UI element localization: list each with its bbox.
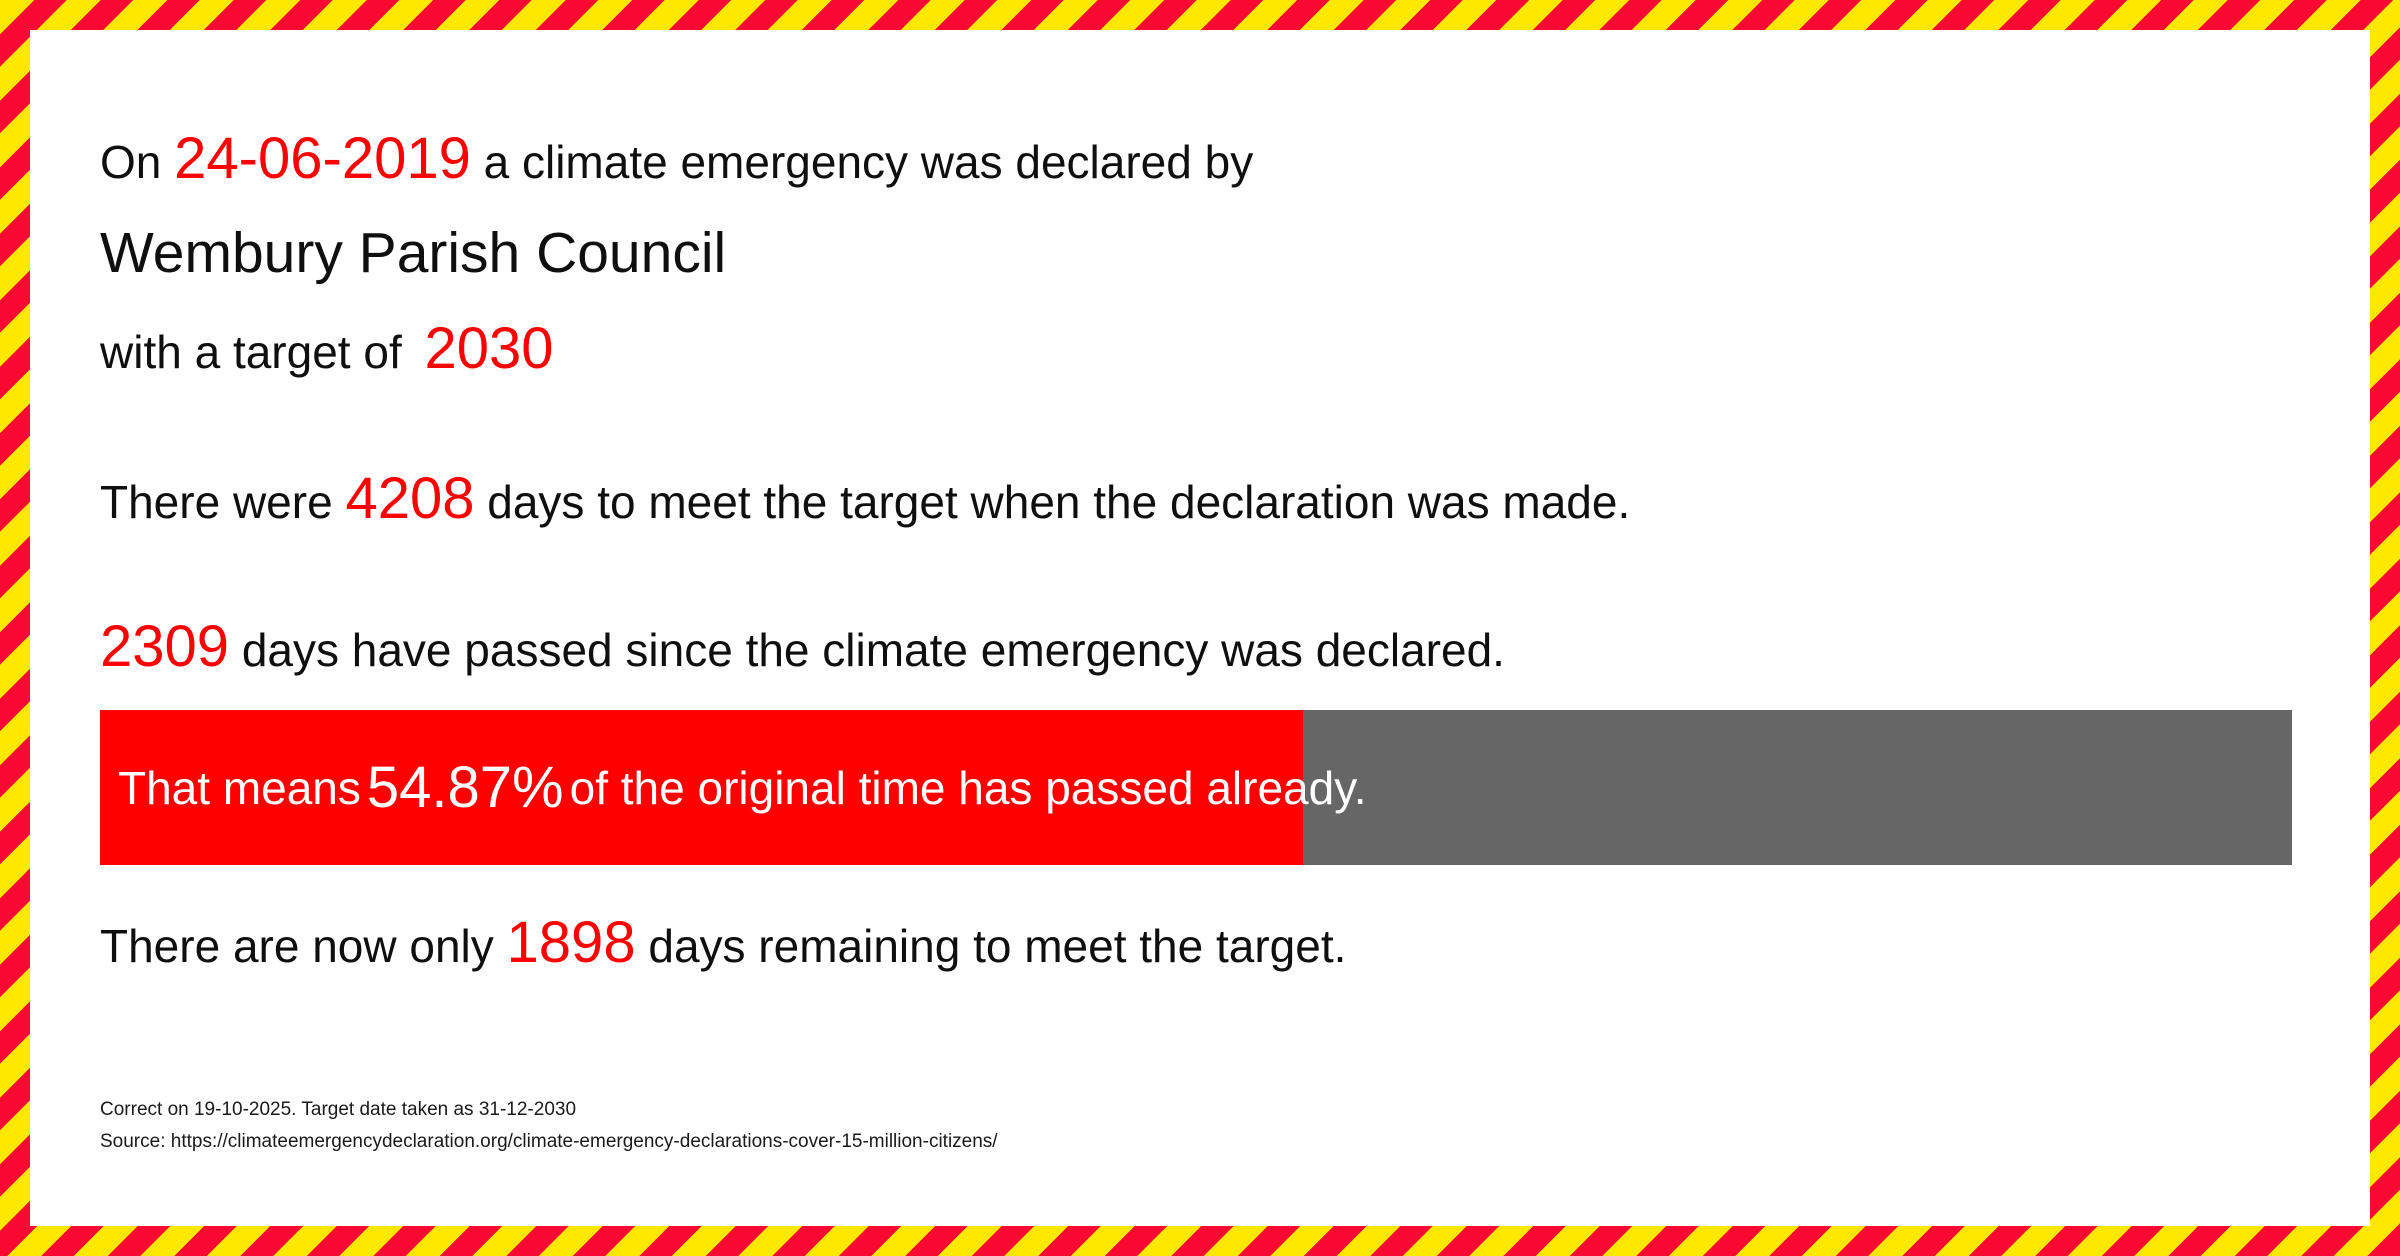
days-passed-value: 2309 [100,614,229,679]
progress-bar-label: That means 54.87% of the original time h… [118,710,1367,865]
days-passed-statement: 2309 days have passed since the climate … [100,618,1505,676]
target-prefix: with a target of [100,326,402,378]
days-passed-suffix: days have passed since the climate emerg… [242,624,1505,676]
time-elapsed-progress-bar: That means 54.87% of the original time h… [100,710,2292,865]
original-days-value: 4208 [345,466,474,531]
footnote-source: Source: https://climateemergencydeclarat… [100,1132,998,1151]
progress-suffix: of the original time has passed already. [570,765,1367,811]
footnote-correct-on: Correct on 19-10-2025. Target date taken… [100,1100,576,1119]
original-days-statement: There were 4208 days to meet the target … [100,470,1630,528]
poster-frame: On 24-06-2019 a climate emergency was de… [0,0,2400,1256]
declaration-statement: On 24-06-2019 a climate emergency was de… [100,130,1253,188]
progress-percent-value: 54.87% [361,759,570,817]
remaining-prefix: There are now only [100,920,494,972]
original-suffix: days to meet the target when the declara… [487,476,1630,528]
remaining-suffix: days remaining to meet the target. [648,920,1346,972]
content-card: On 24-06-2019 a climate emergency was de… [30,30,2370,1226]
declaration-prefix: On [100,136,161,188]
target-statement: with a target of 2030 [100,320,554,378]
days-remaining-statement: There are now only 1898 days remaining t… [100,914,1346,972]
progress-prefix: That means [118,765,361,811]
council-name: Wembury Parish Council [100,225,726,282]
declaration-suffix: a climate emergency was declared by [484,136,1254,188]
original-prefix: There were [100,476,333,528]
target-year: 2030 [425,316,554,381]
days-remaining-value: 1898 [507,910,636,975]
declaration-date: 24-06-2019 [174,126,471,191]
